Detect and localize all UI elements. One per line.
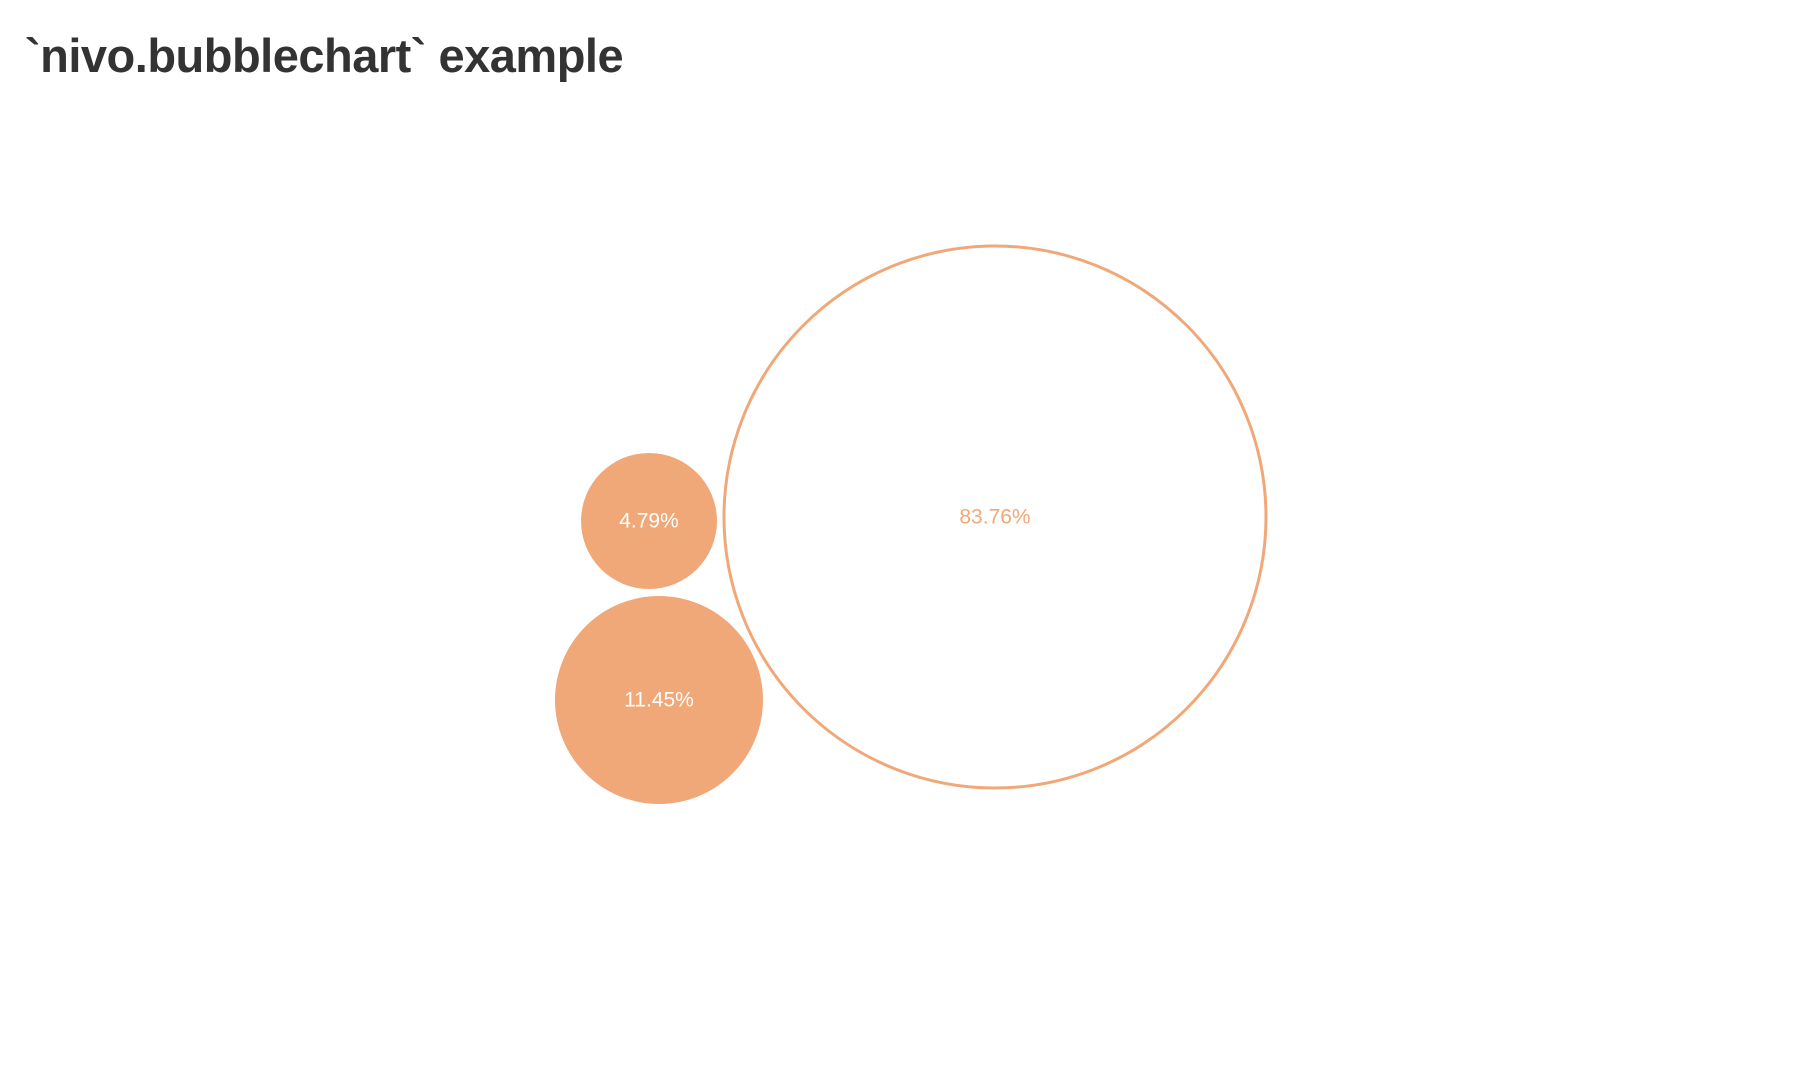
bubble-chart: 83.76%11.45%4.79%: [0, 130, 1804, 1068]
bubble-label: 11.45%: [624, 689, 694, 712]
bubble-label: 83.76%: [959, 506, 1030, 529]
bubble-chart-svg: 83.76%11.45%4.79%: [0, 130, 1804, 1068]
bubble-label: 4.79%: [619, 510, 679, 533]
bubble-node[interactable]: 11.45%: [555, 596, 763, 804]
bubble-node-group: 83.76%11.45%4.79%: [555, 246, 1266, 804]
bubble-node[interactable]: 4.79%: [581, 453, 717, 589]
page-title: `nivo.bubblechart` example: [25, 28, 623, 84]
bubble-node[interactable]: 83.76%: [724, 246, 1266, 788]
